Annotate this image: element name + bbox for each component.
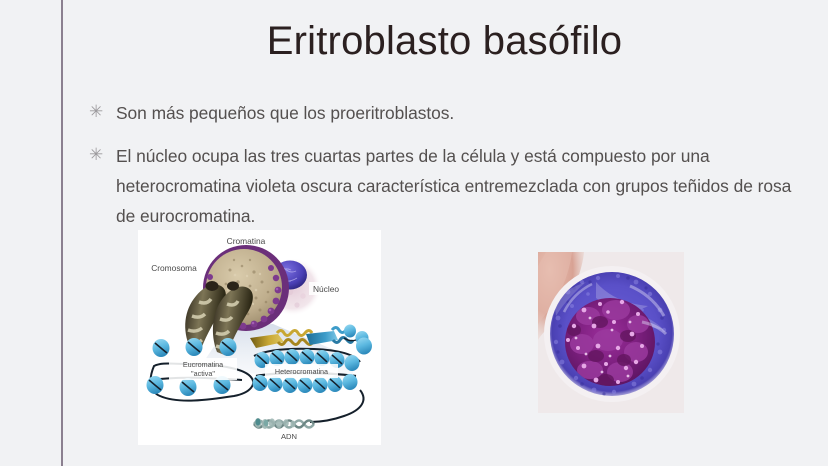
list-item: ✳ El núcleo ocupa las tres cuartas parte… <box>88 141 800 231</box>
page-title: Eritroblasto basófilo <box>61 14 828 68</box>
bullet-text: Son más pequeños que los proeritroblasto… <box>116 98 800 128</box>
diagram-label-adn: ADN <box>281 432 297 441</box>
diagram-label-cromosoma: Cromosoma <box>151 263 197 273</box>
diagram-label-text: Núcleo <box>313 284 339 294</box>
diagram-label-text: Eucromatina <box>183 360 223 369</box>
diagram-label-text: "activa" <box>191 369 215 378</box>
bullet-list: ✳ Son más pequeños que los proeritroblas… <box>88 98 800 244</box>
diagram-label-heterocromatina: Heterocromatina <box>265 364 338 378</box>
micrograph-image <box>538 252 684 413</box>
slide-root: Eritroblasto basófilo ✳ Son más pequeños… <box>0 0 828 466</box>
diagram-label-text: Heterocromatina <box>275 367 328 376</box>
asterisk-bullet-icon: ✳ <box>88 98 116 125</box>
asterisk-bullet-icon: ✳ <box>88 141 116 168</box>
left-accent-rule <box>61 0 63 466</box>
bullet-text: El núcleo ocupa las tres cuartas partes … <box>116 141 800 231</box>
diagram-label-nucleo: Núcleo <box>309 282 344 295</box>
diagram-label-cromatina: Cromatina <box>227 236 266 246</box>
diagram-label-eucromatina: Eucromatina "activa" <box>169 358 237 380</box>
list-item: ✳ Son más pequeños que los proeritroblas… <box>88 98 800 128</box>
chromatin-diagram-image: Heterocromatina Eucromatina "activa" Cro… <box>138 230 381 445</box>
